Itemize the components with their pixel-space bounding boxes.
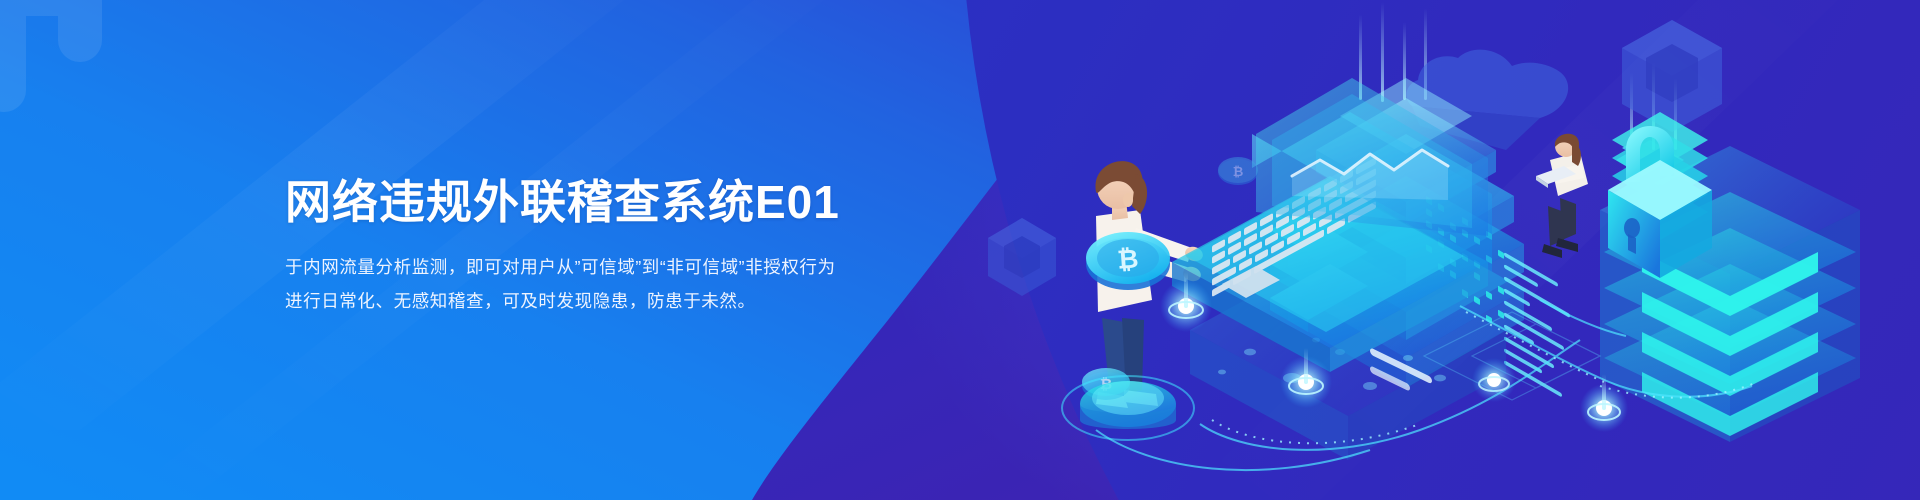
standing-person-platform	[1062, 376, 1194, 440]
subtitle-line-2: 进行日常化、无感知稽查，可及时发现隐患，防患于未然。	[285, 284, 840, 318]
svg-text:₿: ₿	[1116, 243, 1139, 274]
bitcoin-coin-tiny: ₿	[1218, 157, 1258, 185]
bitcoin-coin-large: ₿	[1086, 232, 1170, 290]
corner-decor-icon	[0, 0, 120, 120]
hero-banner: ₿ ₿ ₿	[0, 0, 1920, 500]
hexagon-cube-icon	[1622, 20, 1722, 132]
seated-person-with-laptop	[1536, 134, 1588, 258]
banner-subtitle: 于内网流量分析监测，即可对用户从”可信域”到“非可信域”非授权行为 进行日常化、…	[285, 250, 840, 318]
page-title: 网络违规外联稽查系统E01	[285, 178, 840, 228]
svg-text:₿: ₿	[1233, 164, 1244, 179]
subtitle-line-1: 于内网流量分析监测，即可对用户从”可信域”到“非可信域”非授权行为	[285, 250, 840, 284]
hexagon-cube-icon-small	[988, 218, 1056, 296]
hero-illustration: ₿ ₿ ₿	[900, 0, 1920, 500]
banner-copy: 网络违规外联稽查系统E01 于内网流量分析监测，即可对用户从”可信域”到“非可信…	[285, 178, 840, 318]
